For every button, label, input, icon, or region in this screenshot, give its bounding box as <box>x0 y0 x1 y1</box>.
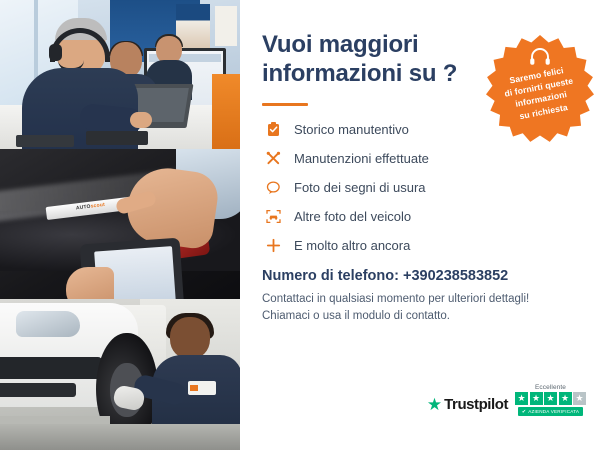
contact-subtext-line-2: Chiamaci o usa il modulo di contatto. <box>262 310 450 322</box>
headline-line-2: informazioni su ? <box>262 60 457 87</box>
star-rating: ★ ★ ★ ★ ★ <box>515 392 586 405</box>
list-item-label: E molto altro ancora <box>294 238 410 253</box>
star-box: ★ <box>544 392 557 405</box>
clipboard-check-icon <box>262 120 284 140</box>
list-item-label: Altre foto del veicolo <box>294 209 411 224</box>
star-box: ★ <box>515 392 528 405</box>
contact-subtext: Contattaci in qualsiasi momento per ulte… <box>262 291 578 327</box>
phone-number[interactable]: Numero di telefono: +390238583852 <box>262 268 578 284</box>
wheel-service-photo <box>0 299 240 450</box>
car-scan-icon <box>262 207 284 227</box>
vehicle-inspection-photo: AUTOscout <box>0 149 240 299</box>
call-center-photo <box>0 0 240 149</box>
list-item-label: Foto dei segni di usura <box>294 180 426 195</box>
rating-label: Eccellente <box>535 384 566 391</box>
trustpilot-wordmark: Trustpilot <box>444 396 508 413</box>
trustpilot-star-icon: ★ <box>427 396 442 413</box>
list-item: Manutenzioni effettuate <box>262 149 578 169</box>
list-item-label: Manutenzioni effettuate <box>294 151 429 166</box>
list-item: Foto dei segni di usura <box>262 178 578 198</box>
speech-bubble-icon <box>262 178 284 198</box>
trustpilot-rating-block: Eccellente ★ ★ ★ ★ ★ ✔ AZIENDA VERIFICAT… <box>515 384 586 417</box>
callout-badge: Saremo felici di fornirti queste informa… <box>486 35 594 143</box>
list-item: Altre foto del veicolo <box>262 207 578 227</box>
trustpilot-logo: ★ Trustpilot <box>427 396 508 416</box>
star-box-partial: ★ <box>573 392 586 405</box>
plus-icon <box>262 236 284 256</box>
list-item: E molto altro ancora <box>262 236 578 256</box>
headline-line-1: Vuoi maggiori <box>262 31 419 58</box>
star-box: ★ <box>559 392 572 405</box>
status-badge: ✔ AZIENDA VERIFICATA <box>518 407 583 416</box>
photo-column: AUTOscout <box>0 0 240 450</box>
check-circle-icon: ✔ <box>522 409 526 415</box>
contact-subtext-line-1: Contattaci in qualsiasi momento per ulte… <box>262 293 529 305</box>
content-panel: Vuoi maggiori informazioni su ? Storico … <box>240 0 600 450</box>
list-item-label: Storico manutentivo <box>294 122 409 137</box>
trustpilot-widget[interactable]: ★ Trustpilot Eccellente ★ ★ ★ ★ ★ ✔ AZIE… <box>427 384 586 417</box>
star-box: ★ <box>530 392 543 405</box>
promo-banner: AUTOscout <box>0 0 600 450</box>
verified-label: AZIENDA VERIFICATA <box>528 409 579 414</box>
tools-cross-icon <box>262 149 284 169</box>
title-divider <box>262 103 308 106</box>
